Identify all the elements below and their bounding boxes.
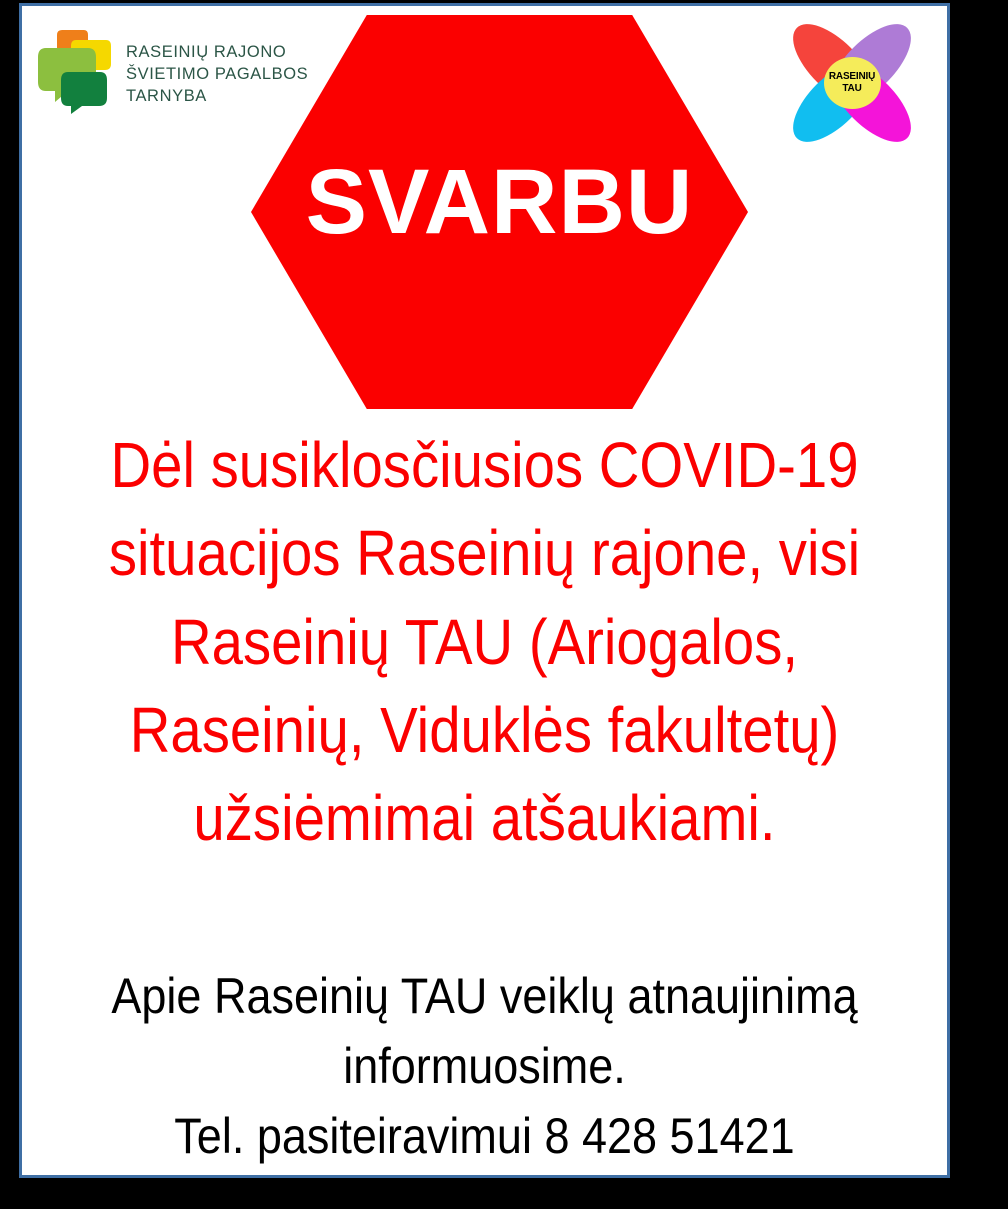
tau-logo-center-badge: RASEINIŲ TAU xyxy=(824,57,881,109)
speech-bubble-leaves-logo-icon xyxy=(38,28,116,114)
headline-line-3: Raseinių TAU (Ariogalos, xyxy=(85,598,885,686)
headline-line-1: Dėl susiklosčiusios COVID-19 xyxy=(85,421,885,509)
announcement-slide: RASEINIŲ RAJONO ŠVIETIMO PAGALBOS TARNYB… xyxy=(19,3,950,1178)
poster-outer-frame: RASEINIŲ RAJONO ŠVIETIMO PAGALBOS TARNYB… xyxy=(0,0,1008,1209)
announcement-headline: Dėl susiklosčiusios COVID-19 situacijos … xyxy=(85,421,885,863)
tau-center-line-1: RASEINIŲ xyxy=(829,71,875,82)
headline-line-5: užsiėmimai atšaukiami. xyxy=(85,774,885,862)
headline-line-2: situacijos Raseinių rajone, visi xyxy=(85,509,885,597)
note-line-2: informuosime. xyxy=(75,1031,893,1101)
raseiniu-tau-logo: RASEINIŲ TAU xyxy=(779,16,925,149)
tau-center-line-2: TAU xyxy=(842,83,861,94)
contact-note: Apie Raseinių TAU veiklų atnaujinimą inf… xyxy=(75,961,893,1171)
hexagon-banner-label: SVARBU xyxy=(251,15,748,409)
note-line-3: Tel. pasiteiravimui 8 428 51421 xyxy=(75,1101,893,1171)
note-line-1: Apie Raseinių TAU veiklų atnaujinimą xyxy=(75,961,893,1031)
important-hexagon-banner: SVARBU xyxy=(251,15,748,409)
headline-line-4: Raseinių, Viduklės fakultetų) xyxy=(85,686,885,774)
